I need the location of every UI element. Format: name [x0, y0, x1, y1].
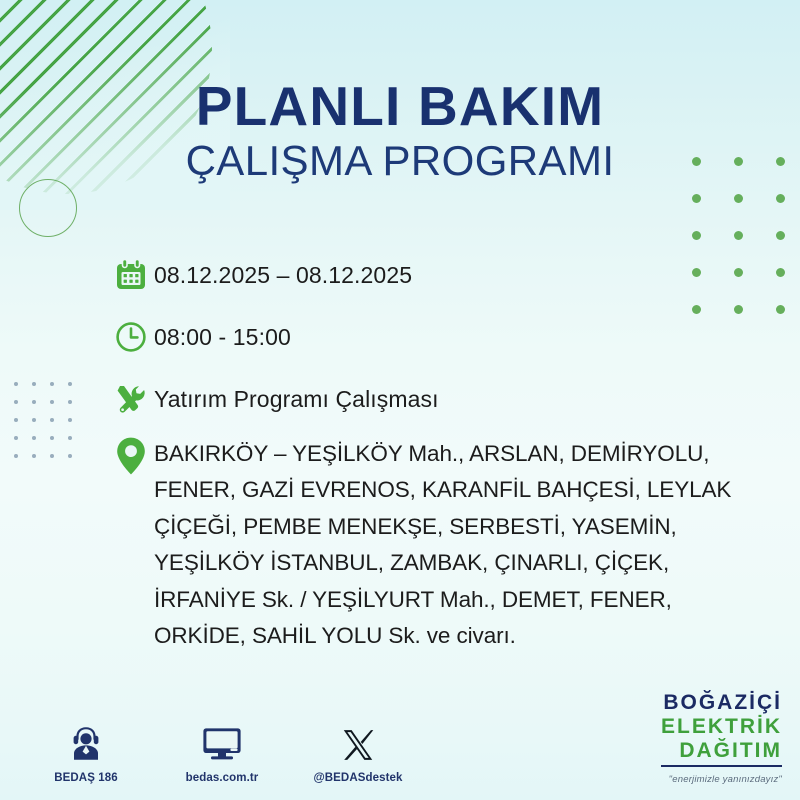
decoration-dot	[50, 400, 54, 404]
clock-icon	[108, 314, 154, 360]
decoration-dot	[32, 400, 36, 404]
tools-icon	[108, 376, 154, 422]
logo-slogan: "enerjimizle yanınızdayız"	[669, 774, 782, 785]
logo-line-dagitim: DAĞITIM	[661, 740, 782, 761]
poster-footer: BEDAŞ 186 bedas.com.tr	[0, 690, 800, 800]
decoration-dot	[50, 436, 54, 440]
bedas-logo: BOĞAZİÇİ ELEKTRİK DAĞITIM "enerjimizle y…	[661, 692, 782, 786]
decoration-dot	[14, 454, 18, 458]
logo-line-bogazici: BOĞAZİÇİ	[661, 692, 782, 713]
call-center-agent-icon	[38, 722, 134, 762]
decoration-dot	[776, 194, 785, 203]
detail-row-work-type: Yatırım Programı Çalışması	[108, 376, 768, 422]
decoration-dot	[776, 231, 785, 240]
maintenance-affected-area: BAKIRKÖY – YEŞİLKÖY Mah., ARSLAN, DEMİRY…	[154, 434, 768, 655]
circle-outline-decoration	[19, 179, 77, 237]
contact-phone[interactable]: BEDAŞ 186	[38, 722, 134, 786]
decoration-dot	[68, 436, 72, 440]
monitor-icon	[174, 722, 270, 762]
decoration-dot	[32, 418, 36, 422]
calendar-icon	[108, 252, 154, 298]
contact-channels: BEDAŞ 186 bedas.com.tr	[38, 722, 406, 786]
planned-maintenance-poster: PLANLI BAKIM ÇALIŞMA PROGRAMI	[0, 0, 800, 800]
location-pin-icon	[108, 434, 154, 482]
decoration-dot	[734, 194, 743, 203]
contact-website-label: bedas.com.tr	[186, 772, 259, 784]
detail-row-area: BAKIRKÖY – YEŞİLKÖY Mah., ARSLAN, DEMİRY…	[108, 434, 768, 655]
poster-title-block: PLANLI BAKIM ÇALIŞMA PROGRAMI	[0, 78, 800, 186]
x-twitter-icon	[310, 722, 406, 762]
contact-x[interactable]: @BEDASdestek	[310, 722, 406, 786]
decoration-dot	[32, 454, 36, 458]
maintenance-time-range: 08:00 - 15:00	[154, 314, 291, 354]
maintenance-date-range: 08.12.2025 – 08.12.2025	[154, 252, 412, 292]
decoration-dot	[692, 194, 701, 203]
logo-divider	[661, 765, 782, 767]
decoration-dot	[14, 418, 18, 422]
contact-website[interactable]: bedas.com.tr	[174, 722, 270, 786]
decoration-dot	[32, 382, 36, 386]
maintenance-details: 08.12.2025 – 08.12.2025 08:00 - 15:00	[108, 252, 768, 671]
detail-row-date: 08.12.2025 – 08.12.2025	[108, 252, 768, 298]
decoration-dot	[50, 418, 54, 422]
dot-grid-left-decoration	[14, 382, 86, 472]
page-subtitle: ÇALIŞMA PROGRAMI	[0, 136, 800, 186]
decoration-dot	[14, 436, 18, 440]
decoration-dot	[734, 231, 743, 240]
decoration-dot	[68, 418, 72, 422]
decoration-dot	[14, 382, 18, 386]
decoration-dot	[776, 305, 785, 314]
decoration-dot	[32, 436, 36, 440]
logo-line-elektrik: ELEKTRİK	[661, 716, 782, 737]
detail-row-time: 08:00 - 15:00	[108, 314, 768, 360]
decoration-dot	[68, 400, 72, 404]
decoration-dot	[50, 454, 54, 458]
decoration-dot	[68, 454, 72, 458]
contact-phone-label: BEDAŞ 186	[54, 772, 118, 784]
page-title: PLANLI BAKIM	[0, 78, 800, 134]
decoration-dot	[50, 382, 54, 386]
decoration-dot	[692, 231, 701, 240]
decoration-dot	[68, 382, 72, 386]
decoration-dot	[776, 268, 785, 277]
maintenance-work-type: Yatırım Programı Çalışması	[154, 376, 439, 416]
contact-x-label: @BEDASdestek	[313, 772, 402, 784]
decoration-dot	[14, 400, 18, 404]
